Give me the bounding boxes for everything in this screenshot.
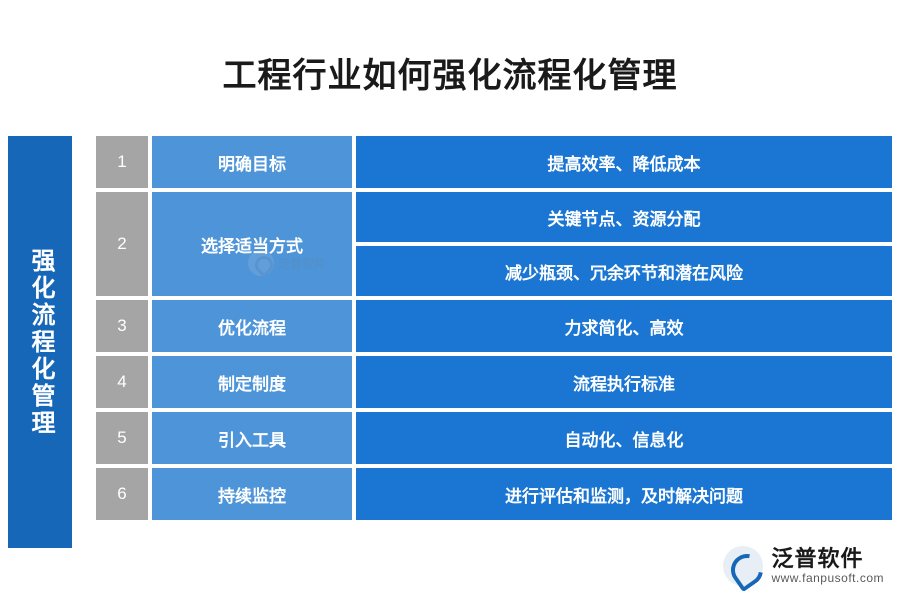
- row-detail-column: 自动化、信息化: [356, 412, 892, 464]
- row-detail: 提高效率、降低成本: [356, 136, 892, 188]
- row-detail-column: 流程执行标准: [356, 356, 892, 408]
- brand-text: 泛普软件 www.fanpusoft.com: [771, 546, 884, 585]
- left-category-label: 强化流程化管理: [23, 248, 57, 437]
- row-detail: 减少瓶颈、冗余环节和潜在风险: [356, 246, 892, 296]
- process-rows: 1 明确目标 提高效率、降低成本 2 选择适当方式 关键节点、资源分配 减少瓶颈…: [96, 136, 892, 524]
- diagram-canvas: 工程行业如何强化流程化管理 强化流程化管理 1 明确目标 提高效率、降低成本 2…: [0, 0, 900, 600]
- row-detail-column: 进行评估和监测，及时解决问题: [356, 468, 892, 520]
- row-step-name: 优化流程: [152, 300, 352, 352]
- row-number: 1: [96, 136, 148, 188]
- brand-logo: 泛普软件 www.fanpusoft.com: [723, 546, 884, 586]
- brand-swirl-icon: [723, 546, 763, 586]
- row-detail: 进行评估和监测，及时解决问题: [356, 468, 892, 520]
- row-number: 2: [96, 192, 148, 296]
- row-step-name: 明确目标: [152, 136, 352, 188]
- row-detail: 自动化、信息化: [356, 412, 892, 464]
- row-detail: 关键节点、资源分配: [356, 192, 892, 242]
- row-step-name: 选择适当方式: [152, 192, 352, 296]
- table-row: 6 持续监控 进行评估和监测，及时解决问题: [96, 468, 892, 520]
- row-step-name: 引入工具: [152, 412, 352, 464]
- row-step-name: 持续监控: [152, 468, 352, 520]
- table-row: 3 优化流程 力求简化、高效: [96, 300, 892, 352]
- row-detail-column: 力求简化、高效: [356, 300, 892, 352]
- row-number: 5: [96, 412, 148, 464]
- row-detail-column: 关键节点、资源分配 减少瓶颈、冗余环节和潜在风险: [356, 192, 892, 296]
- row-number: 6: [96, 468, 148, 520]
- brand-url: www.fanpusoft.com: [771, 572, 884, 586]
- table-row: 4 制定制度 流程执行标准: [96, 356, 892, 408]
- row-detail: 流程执行标准: [356, 356, 892, 408]
- left-category-bar: 强化流程化管理: [8, 136, 72, 548]
- page-title: 工程行业如何强化流程化管理: [0, 48, 900, 97]
- row-detail: 力求简化、高效: [356, 300, 892, 352]
- row-step-name: 制定制度: [152, 356, 352, 408]
- row-detail-column: 提高效率、降低成本: [356, 136, 892, 188]
- table-row: 1 明确目标 提高效率、降低成本: [96, 136, 892, 188]
- row-number: 3: [96, 300, 148, 352]
- row-number: 4: [96, 356, 148, 408]
- table-row: 5 引入工具 自动化、信息化: [96, 412, 892, 464]
- brand-name: 泛普软件: [771, 546, 884, 571]
- table-row: 2 选择适当方式 关键节点、资源分配 减少瓶颈、冗余环节和潜在风险: [96, 192, 892, 296]
